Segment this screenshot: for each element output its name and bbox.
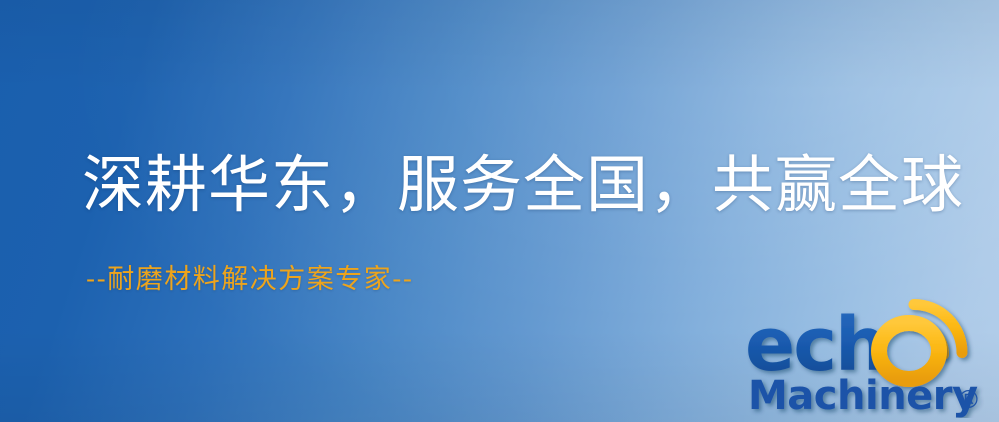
banner-headline: 深耕华东，服务全国，共赢全球 [82, 152, 964, 217]
registered-trademark-icon: ® [956, 385, 981, 414]
echo-machinery-logo: ech Machinery ® [742, 292, 994, 418]
letter-o-ring-icon [879, 323, 939, 379]
logo-wordmark-machinery: Machinery [748, 373, 978, 418]
promo-banner: 深耕华东，服务全国，共赢全球 --耐磨材料解决方案专家-- [0, 0, 999, 422]
banner-subtitle: --耐磨材料解决方案专家-- [86, 264, 414, 296]
